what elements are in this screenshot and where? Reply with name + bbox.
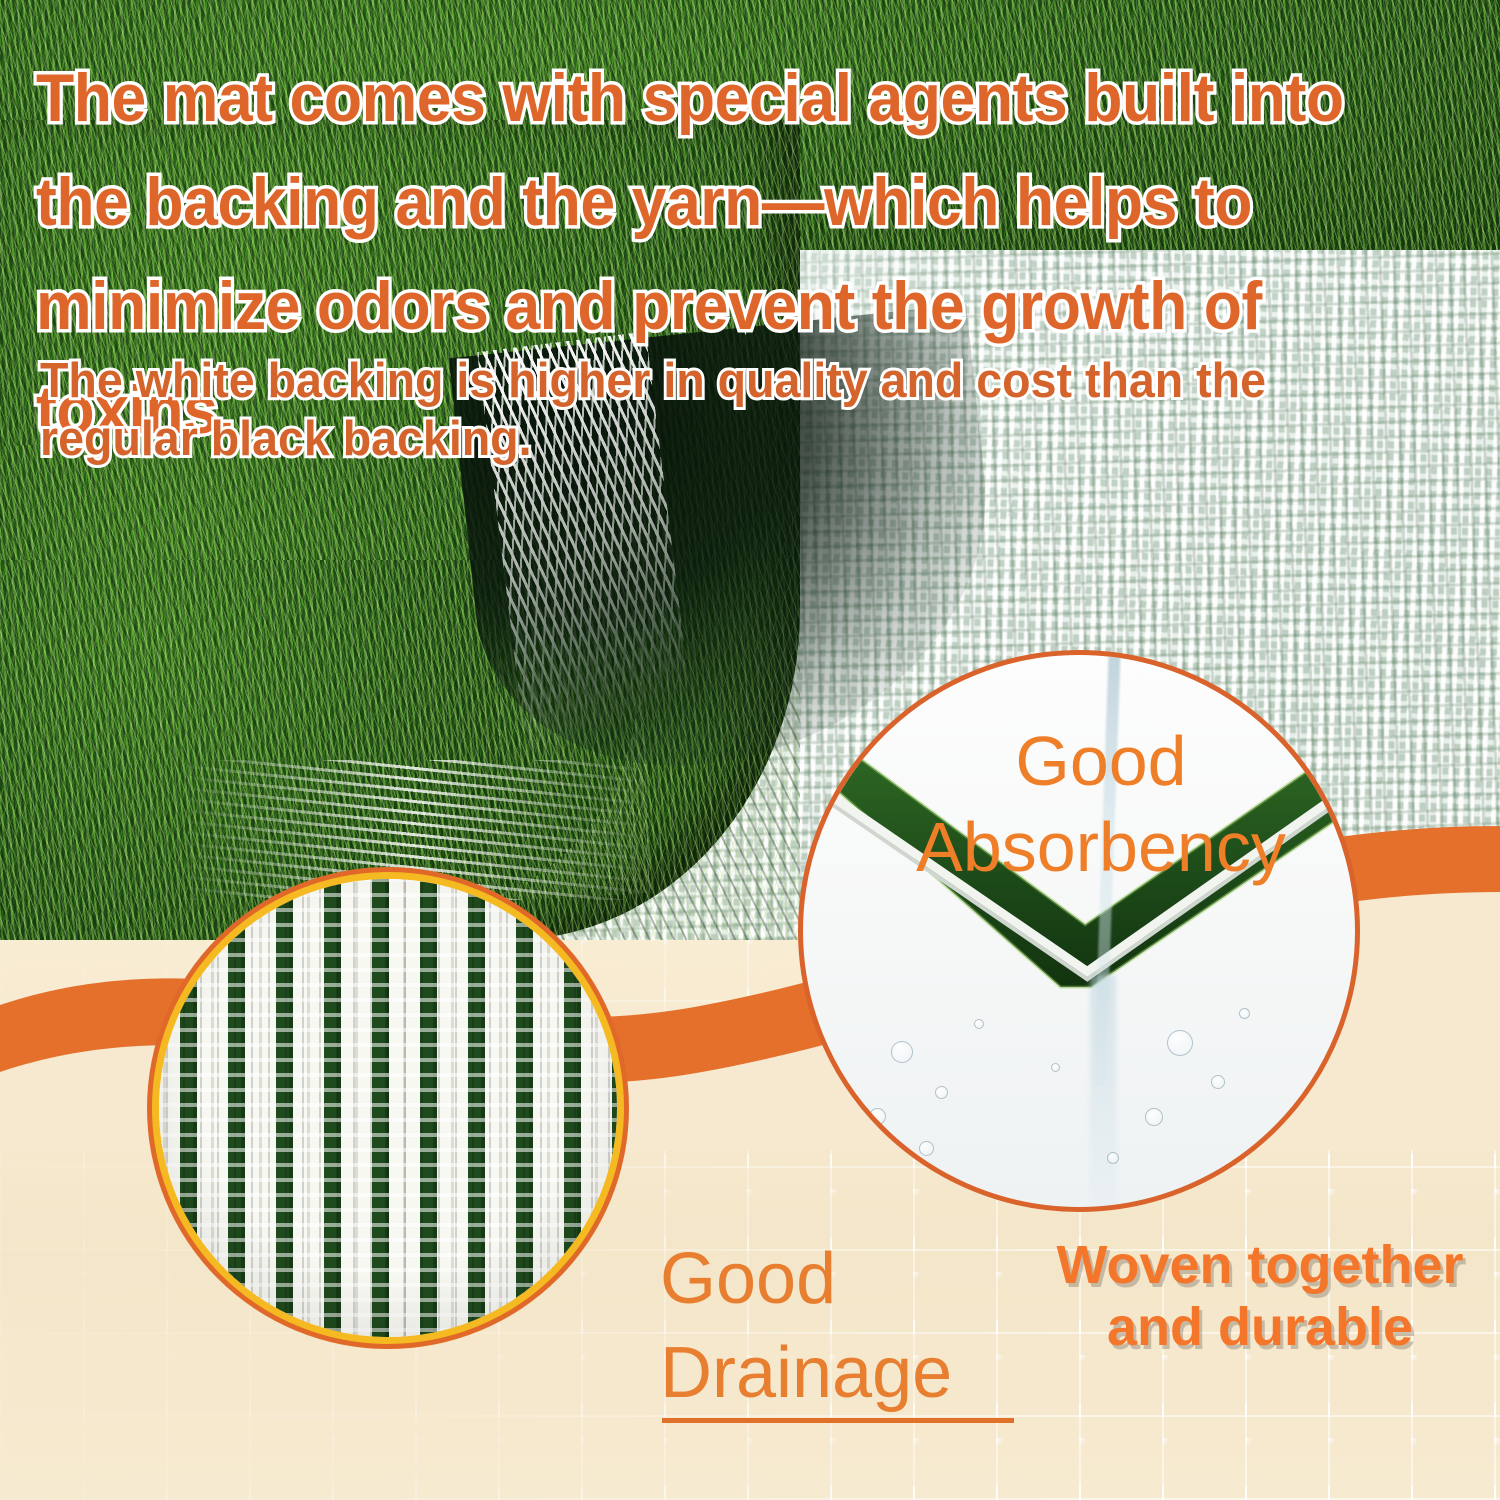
product-infographic: Good Absorbency Good Drainage Woven toge… — [0, 0, 1500, 1500]
note-woven-together: Woven together and durable — [1040, 1234, 1480, 1358]
bubble — [1239, 1008, 1250, 1019]
callout-drainage-label: Good Drainage — [660, 1232, 1080, 1420]
bubble — [919, 1141, 934, 1156]
bubble — [869, 1108, 886, 1125]
weave-vignette — [159, 879, 617, 1337]
bubble — [1167, 1030, 1193, 1056]
callout-drainage-underline — [662, 1418, 1014, 1423]
bubble — [974, 1019, 984, 1029]
bubble — [891, 1041, 913, 1063]
bubble — [935, 1086, 948, 1099]
subheadline: The white backing is higher in quality a… — [40, 352, 1275, 468]
bubble — [1145, 1108, 1163, 1126]
callout-drainage[interactable] — [152, 872, 624, 1344]
callout-absorbency-label: Good Absorbency — [866, 718, 1336, 890]
bubble — [1051, 1063, 1060, 1072]
bubble — [1211, 1075, 1225, 1089]
water-stream-lower — [1090, 975, 1116, 1207]
bubble — [1107, 1152, 1119, 1164]
